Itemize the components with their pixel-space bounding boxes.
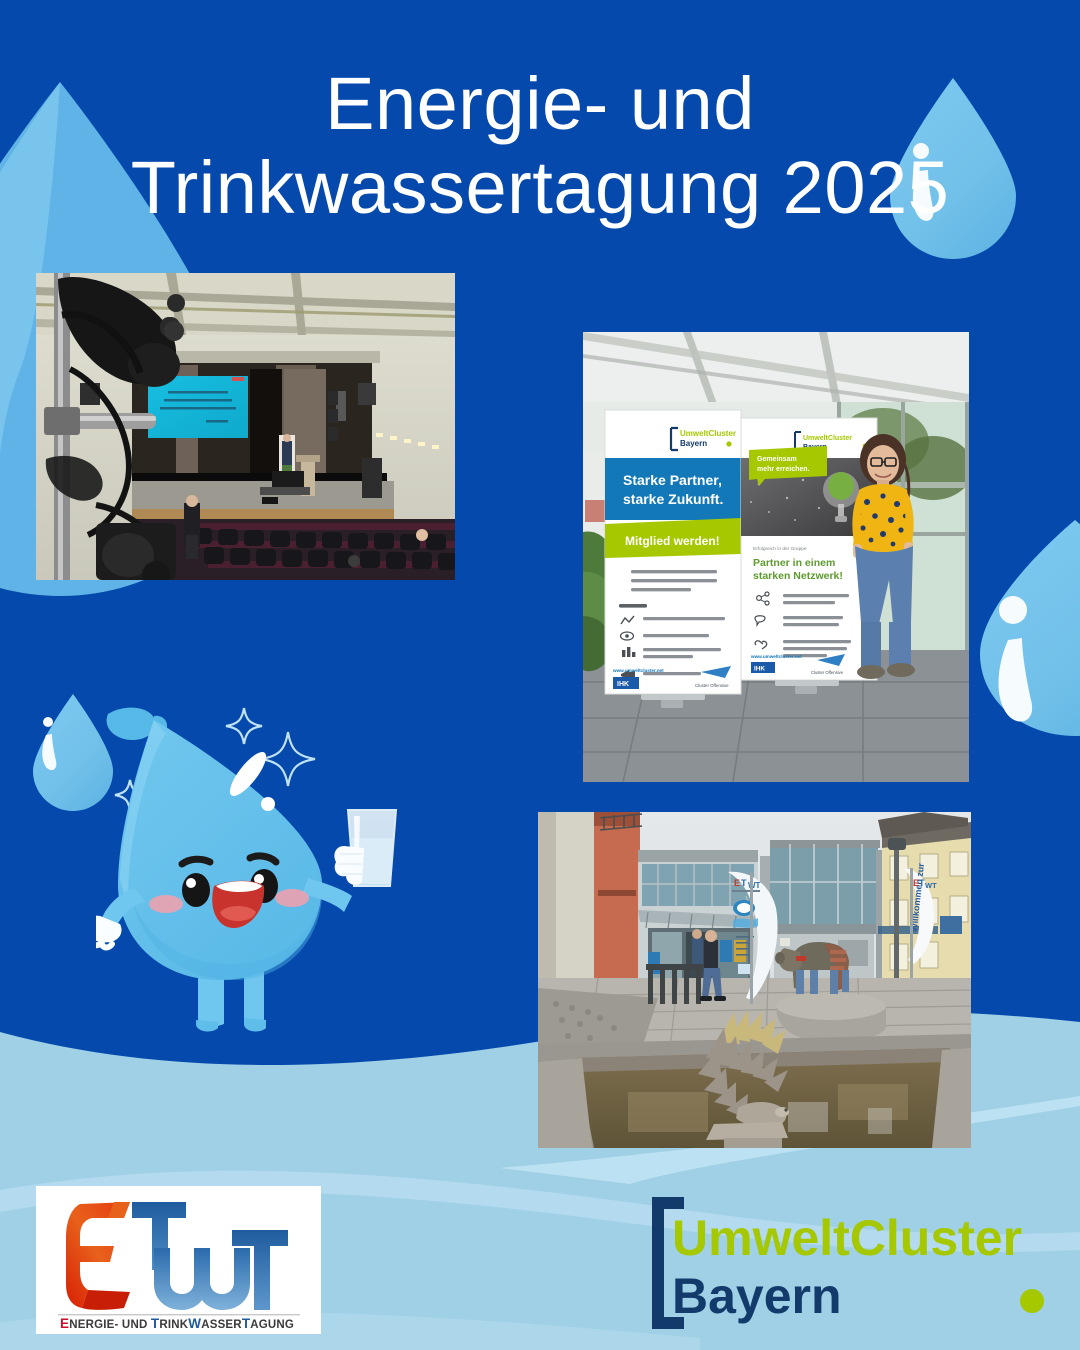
photo-courtyard: E T WT Willkommen zur xyxy=(538,812,971,1148)
svg-text:Bayern: Bayern xyxy=(680,439,707,448)
poster-canvas: Energie- und Trinkwassertagung 2025 xyxy=(0,0,1080,1350)
svg-text:IHK: IHK xyxy=(617,681,629,688)
green-dot-icon xyxy=(1020,1289,1044,1313)
svg-text:Cluster Offensive: Cluster Offensive xyxy=(811,670,844,675)
poster-title: Energie- und Trinkwassertagung 2025 xyxy=(0,62,1080,230)
svg-text:Gemeinsam: Gemeinsam xyxy=(757,456,797,463)
svg-text:www.umweltcluster.net: www.umweltcluster.net xyxy=(612,668,664,673)
logo-etwt: ENERGIE- UND TRINKWASSERTAGUNG ENERGIE- … xyxy=(36,1186,321,1334)
ucb-line-1-text: UmweltCluster xyxy=(620,1333,621,1334)
svg-text:Erfolgreich in der Gruppe: Erfolgreich in der Gruppe xyxy=(753,546,807,552)
person-in-doorway xyxy=(692,929,703,964)
svg-text:starke Zukunft.: starke Zukunft. xyxy=(623,491,723,507)
etwt-tagline: ENERGIE- UND TRINKWASSERTAGUNG xyxy=(60,1316,294,1331)
svg-text:WT: WT xyxy=(925,881,937,890)
rollup-banner-left: UmweltCluster Bayern Starke Partner, sta… xyxy=(605,410,741,708)
ucb-line-2-text: Bayern xyxy=(620,1333,621,1334)
svg-text:Cluster Offensive: Cluster Offensive xyxy=(695,683,729,688)
ucb-line-2: Bayern xyxy=(672,1268,842,1324)
presenter-in-aisle xyxy=(184,495,200,559)
photo-auditorium xyxy=(36,273,455,580)
svg-text:IHK: IHK xyxy=(754,666,765,673)
svg-text:WT: WT xyxy=(748,881,761,890)
water-drop-mascot xyxy=(96,688,426,1048)
svg-text:UmweltCluster: UmweltCluster xyxy=(680,429,736,438)
background-drop-right-edge xyxy=(980,520,1080,736)
svg-text:mehr erreichen.: mehr erreichen. xyxy=(757,466,810,473)
logo-umweltcluster-bayern: UmweltCluster Bayern UmweltCluster Bayer… xyxy=(620,1193,1060,1333)
mascot-hand-right xyxy=(334,846,364,885)
svg-text:Partner in einem: Partner in einem xyxy=(753,557,835,569)
svg-text:Starke Partner,: Starke Partner, xyxy=(623,472,722,488)
svg-text:starken Netzwerk!: starken Netzwerk! xyxy=(753,570,843,582)
svg-text:T: T xyxy=(741,878,747,888)
ucb-line-1: UmweltCluster xyxy=(672,1210,1022,1266)
title-line-1: Energie- und xyxy=(0,62,1080,146)
title-line-2: Trinkwassertagung 2025 xyxy=(0,146,1080,230)
svg-text:E: E xyxy=(734,878,740,888)
svg-text:UmweltCluster: UmweltCluster xyxy=(803,435,852,442)
photo-booth: UmweltCluster Bayern Starke Partner, sta… xyxy=(583,332,969,782)
svg-text:Mitglied werden!: Mitglied werden! xyxy=(625,534,720,548)
svg-text:www.umweltcluster.net: www.umweltcluster.net xyxy=(750,654,802,659)
